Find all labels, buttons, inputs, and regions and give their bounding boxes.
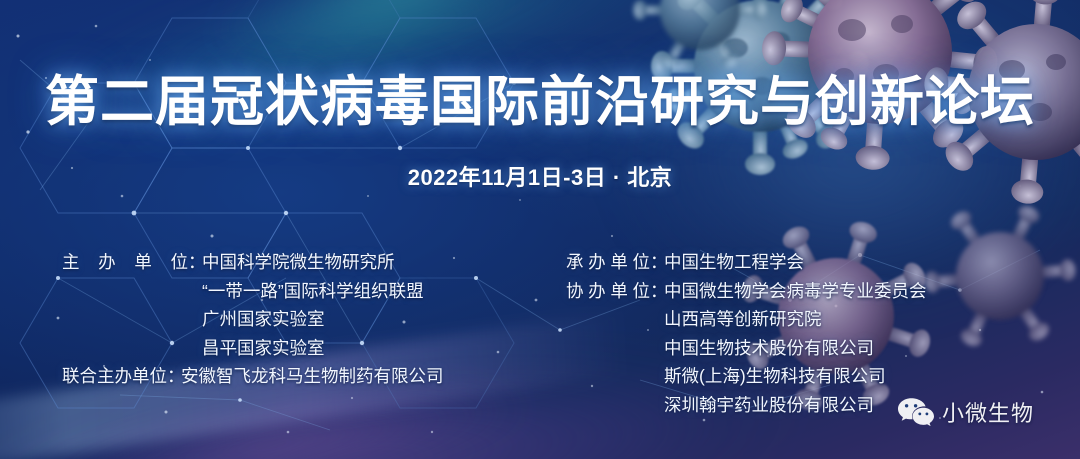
organizer-label: 主办单位 — [62, 248, 188, 277]
organizer-value-line: 昌平国家实验室 — [62, 334, 532, 363]
supporter-label: 协办单位 — [566, 277, 650, 306]
host-colon: ： — [650, 248, 664, 277]
co-organizer-row: 联合主办单位 ： 安徽智飞龙科马生物制药有限公司 — [62, 362, 532, 391]
supporter-colon: ： — [650, 277, 664, 306]
co-organizer-colon: ： — [167, 362, 181, 391]
organizer-value-line: “一带一路”国际科学组织联盟 — [62, 277, 532, 306]
organizers-right-column: 承办单位 ： 中国生物工程学会 协办单位 ： 中国微生物学会病毒学专业委员会 山… — [566, 248, 927, 419]
supporter-value-line: 深圳翰宇药业股份有限公司 — [566, 391, 927, 420]
supporter-value-line: 中国生物技术股份有限公司 — [566, 334, 927, 363]
organizer-row: 主办单位 ： 中国科学院微生物研究所 — [62, 248, 532, 277]
co-organizer-label: 联合主办单位 — [62, 362, 167, 391]
wechat-icon — [896, 396, 936, 428]
host-row: 承办单位 ： 中国生物工程学会 — [566, 248, 927, 277]
supporter-value: 中国微生物学会病毒学专业委员会 — [664, 277, 927, 306]
event-date-location: 2022年11月1日-3日 · 北京 — [0, 160, 1080, 192]
supporter-row: 协办单位 ： 中国微生物学会病毒学专业委员会 — [566, 277, 927, 306]
organizer-value-line: 广州国家实验室 — [62, 305, 532, 334]
organizers-left-column: 主办单位 ： 中国科学院微生物研究所 “一带一路”国际科学组织联盟 广州国家实验… — [62, 248, 532, 419]
watermark-text: 小微生物 — [942, 396, 1034, 428]
organizer-value: 中国科学院微生物研究所 — [202, 248, 395, 277]
conference-banner: 第二届冠状病毒国际前沿研究与创新论坛 2022年11月1日-3日 · 北京 主办… — [0, 0, 1080, 459]
wechat-watermark: 小微生物 — [896, 396, 1034, 428]
organizers-section: 主办单位 ： 中国科学院微生物研究所 “一带一路”国际科学组织联盟 广州国家实验… — [0, 248, 1080, 419]
host-value: 中国生物工程学会 — [664, 248, 804, 277]
supporter-value-line: 斯微(上海)生物科技有限公司 — [566, 362, 927, 391]
organizer-colon: ： — [188, 248, 202, 277]
supporter-value-line: 山西高等创新研究院 — [566, 305, 927, 334]
page-title: 第二届冠状病毒国际前沿研究与创新论坛 — [0, 72, 1080, 132]
co-organizer-value: 安徽智飞龙科马生物制药有限公司 — [181, 362, 444, 391]
host-label: 承办单位 — [566, 248, 650, 277]
